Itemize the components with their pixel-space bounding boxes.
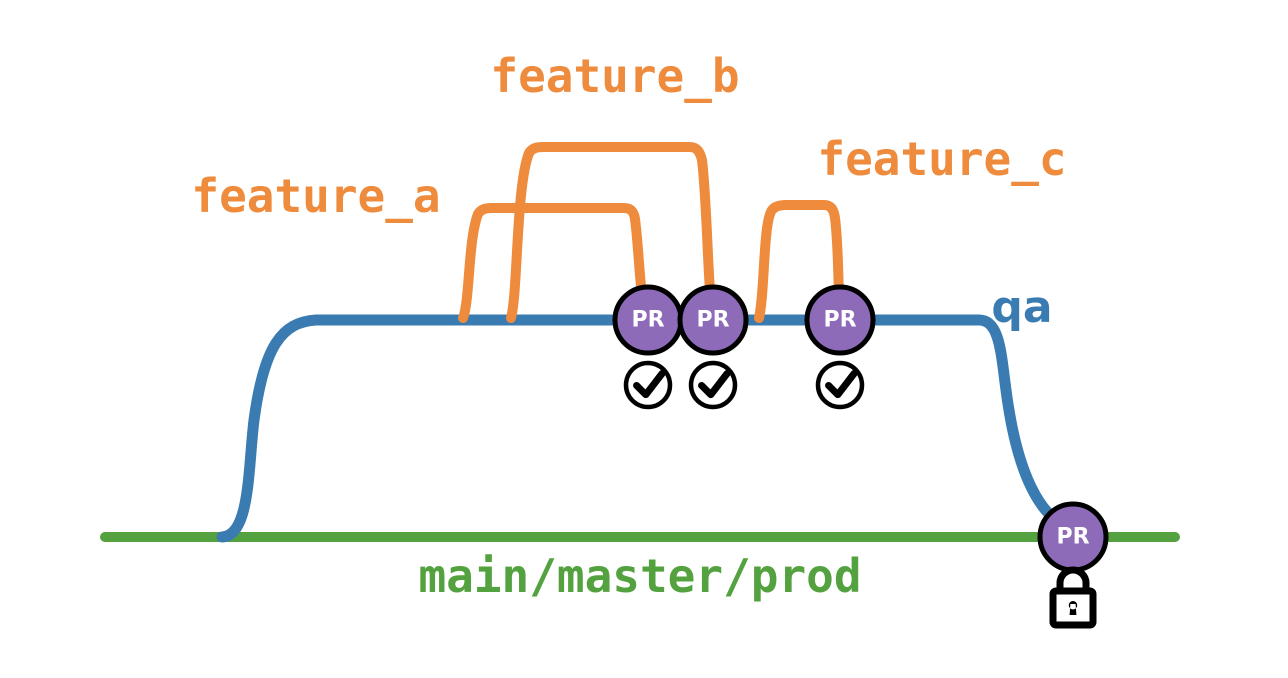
lock-body xyxy=(1053,591,1093,625)
status-icons-group xyxy=(626,363,862,407)
pr-node-1[interactable]: PR xyxy=(615,287,681,353)
pr-node-label: PR xyxy=(696,308,729,333)
branch-label-feature-c: feature_c xyxy=(817,132,1066,186)
pr-node-2[interactable]: PR xyxy=(680,287,746,353)
branch-label-feature-b: feature_b xyxy=(490,49,739,103)
check-circle-icon-2[interactable] xyxy=(691,363,735,407)
check-circle-ring xyxy=(818,363,862,407)
branch-line-feature-a[interactable] xyxy=(463,208,645,318)
pr-node-label: PR xyxy=(823,308,856,333)
check-circle-ring xyxy=(691,363,735,407)
pr-node-3[interactable]: PR xyxy=(807,287,873,353)
pr-node-4[interactable]: PR xyxy=(1040,504,1106,570)
check-circle-icon-3[interactable] xyxy=(818,363,862,407)
pr-node-label: PR xyxy=(631,308,664,333)
pr-node-label: PR xyxy=(1056,525,1089,550)
diagram-canvas: PR PR PR PR xyxy=(0,0,1288,678)
branch-label-feature-a: feature_a xyxy=(191,169,440,223)
check-circle-icon-1[interactable] xyxy=(626,363,670,407)
branch-line-feature-b[interactable] xyxy=(511,147,712,318)
lock-icon[interactable] xyxy=(1053,570,1093,625)
git-branching-diagram: PR PR PR PR xyxy=(0,0,1288,678)
check-circle-ring xyxy=(626,363,670,407)
branch-label-main: main/master/prod xyxy=(418,549,861,603)
branch-label-qa: qa xyxy=(991,282,1052,333)
